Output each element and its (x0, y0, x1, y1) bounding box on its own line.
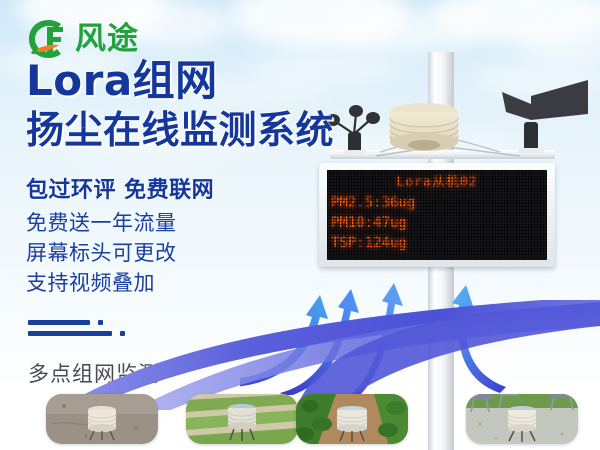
fengtu-leaf-logo-icon (27, 18, 71, 60)
thumbnail-sensor-on-bare-ground (46, 394, 158, 444)
led-reading-tsp: TSP:124ug (331, 233, 543, 253)
wind-vane-icon (502, 80, 588, 155)
led-screen: Lora从机02 PM2.5:36ug PM10:47ug TSP:124ug (327, 170, 547, 260)
feature-item: 支持视频叠加 (26, 268, 177, 298)
led-title: Lora从机02 (331, 173, 543, 193)
poster-banner: 风途 Lora组网 扬尘在线监测系统 包过环评 免费联网 免费送一年流量 屏幕标… (0, 0, 600, 450)
thumbnail-strip (0, 394, 600, 450)
brand-name: 风途 (75, 24, 139, 55)
radiation-shield-icon (390, 103, 458, 151)
anemometer-icon (326, 105, 380, 156)
brand-logo: 风途 (27, 18, 139, 60)
thumbnail-sensor-in-vegetable-field (296, 394, 408, 444)
thumbnail-sensor-on-grass-path (186, 394, 298, 444)
headline-primary: Lora组网 (26, 58, 218, 104)
led-display-panel: Lora从机02 PM2.5:36ug PM10:47ug TSP:124ug (319, 163, 555, 267)
feature-list: 免费送一年流量 屏幕标头可更改 支持视频叠加 (26, 208, 177, 298)
led-reading-pm25: PM2.5:36ug (331, 193, 543, 213)
feature-item: 免费送一年流量 (26, 208, 177, 238)
headline-secondary: 扬尘在线监测系统 (26, 108, 334, 152)
led-reading-pm10: PM10:47ug (331, 213, 543, 233)
feature-item: 屏幕标头可更改 (26, 238, 177, 268)
thumbnail-sensor-near-solar-panels (466, 394, 578, 444)
sub-headline: 包过环评 免费联网 (26, 172, 214, 204)
